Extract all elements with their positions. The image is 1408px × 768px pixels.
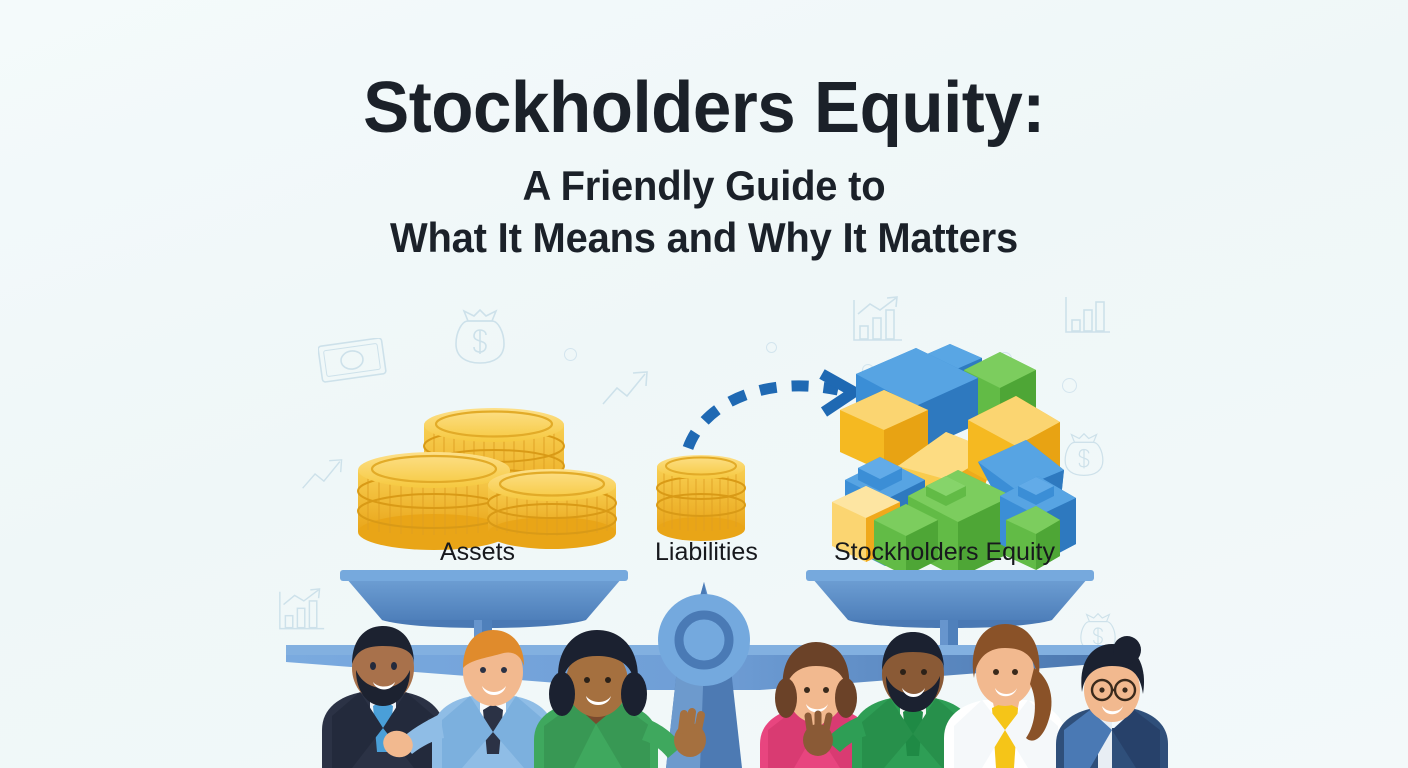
- assets-coin-stacks: [358, 408, 616, 550]
- infographic-canvas: Stockholders Equity: A Friendly Guide to…: [0, 0, 1408, 768]
- balance-scale-illustration: [0, 0, 1408, 768]
- label-assets: Assets: [440, 538, 515, 567]
- coin-stack-right: [488, 469, 616, 549]
- coin-stack-left: [358, 452, 510, 550]
- scale-fulcrum-hub: [658, 594, 750, 686]
- label-stockholders-equity: Stockholders Equity: [834, 538, 1055, 567]
- flow-arrow-icon: [688, 374, 854, 448]
- scale-pan-right: [806, 570, 1094, 648]
- liabilities-coin-stack: [657, 455, 745, 541]
- label-liabilities: Liabilities: [655, 538, 758, 567]
